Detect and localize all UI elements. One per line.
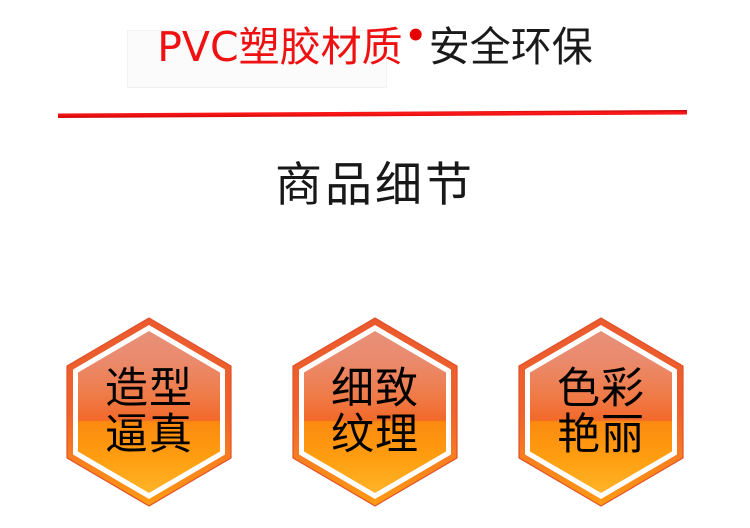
title-separator-dot: • [403, 12, 429, 60]
feature-badge-3[interactable]: 色彩 艳丽 [515, 316, 687, 508]
feature-badge-1[interactable]: 造型 逼真 [63, 316, 235, 508]
page-title: 商品细节 [0, 158, 750, 214]
feature-badge-2[interactable]: 细致 纹理 [289, 316, 461, 508]
header-title: PVC塑胶材质•安全环保 [0, 18, 750, 68]
title-text-black: 安全环保 [429, 23, 593, 71]
feature-badge-row: 造型 逼真 [0, 316, 750, 512]
title-text-red: PVC塑胶材质 [157, 23, 402, 71]
red-divider-line [0, 98, 750, 128]
